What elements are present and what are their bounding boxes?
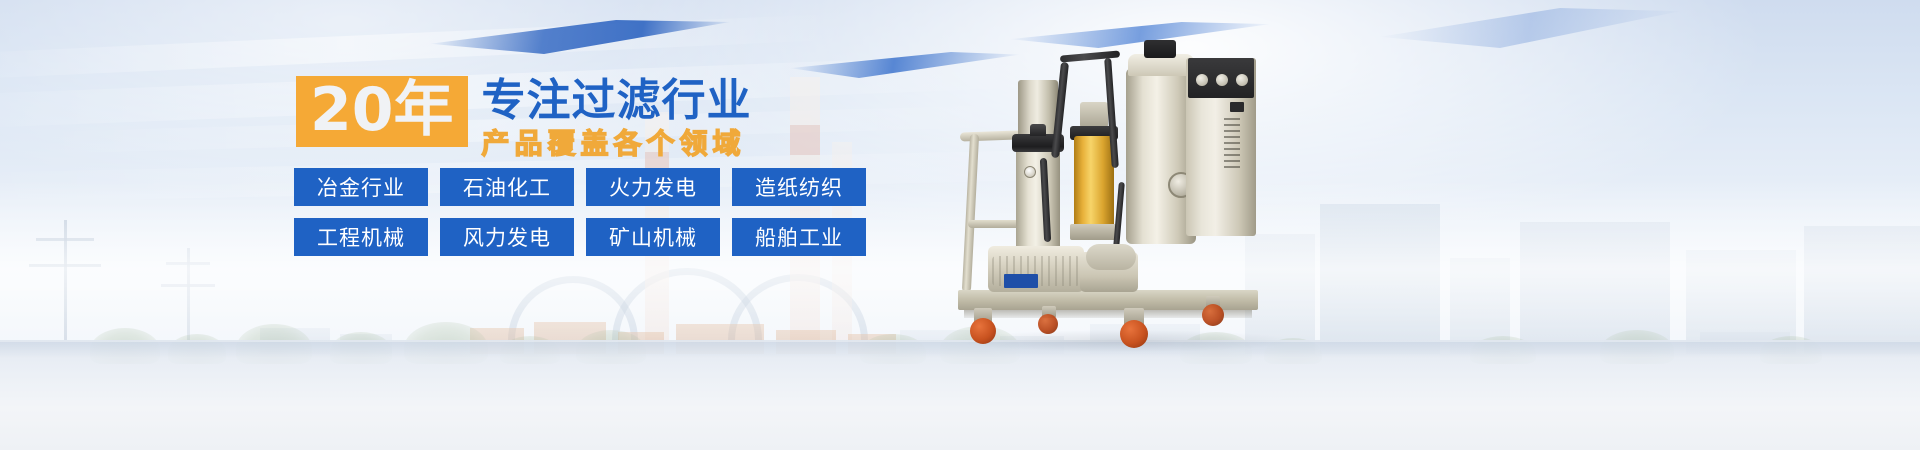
pressure-gauge-icon bbox=[1024, 166, 1036, 178]
tag-marine-industry[interactable]: 船舶工业 bbox=[732, 218, 866, 256]
headline-block: 20年 专注过滤行业 产品覆盖各个领域 bbox=[296, 76, 996, 159]
control-knob-icon bbox=[1196, 74, 1208, 86]
caster-wheel bbox=[1202, 304, 1224, 326]
filter-tank-neck bbox=[1144, 40, 1176, 58]
product-image-filtration-cart bbox=[930, 8, 1290, 348]
plant-building bbox=[1686, 250, 1796, 354]
arch-structure bbox=[728, 274, 868, 340]
headline-row: 20年 专注过滤行业 产品覆盖各个领域 bbox=[296, 76, 996, 159]
industry-tag-row: 工程机械 风力发电 矿山机械 船舶工业 bbox=[294, 218, 894, 256]
industry-tag-row: 冶金行业 石油化工 火力发电 造纸纺织 bbox=[294, 168, 894, 206]
cabinet-vent-grille bbox=[1224, 118, 1240, 172]
caster-wheel bbox=[1120, 320, 1148, 348]
plant-building bbox=[1320, 204, 1440, 354]
left-canister-knob bbox=[1030, 124, 1046, 136]
control-knob-icon bbox=[1216, 74, 1228, 86]
control-knob-icon bbox=[1236, 74, 1248, 86]
power-pylon-icon bbox=[28, 220, 102, 340]
arch-structure bbox=[612, 268, 762, 340]
promo-banner: 20年 专注过滤行业 产品覆盖各个领域 冶金行业 石油化工 火力发电 造纸纺织 … bbox=[0, 0, 1920, 450]
tag-mining-machinery[interactable]: 矿山机械 bbox=[586, 218, 720, 256]
pump-motor bbox=[1086, 244, 1136, 270]
center-canister-base bbox=[1070, 224, 1118, 240]
connection-hose bbox=[1113, 182, 1125, 248]
years-badge: 20年 bbox=[296, 76, 468, 147]
light-streak bbox=[0, 14, 840, 81]
center-canister-head bbox=[1080, 102, 1108, 128]
left-filter-canister bbox=[1016, 148, 1060, 256]
ground-plane bbox=[0, 340, 1920, 450]
caster-wheel bbox=[970, 318, 996, 344]
headline-subtitle: 产品覆盖各个领域 bbox=[482, 129, 752, 160]
village-roofs bbox=[470, 300, 900, 354]
plant-building bbox=[1450, 258, 1510, 354]
power-pylon-icon bbox=[160, 248, 216, 340]
tag-thermal-power[interactable]: 火力发电 bbox=[586, 168, 720, 206]
arch-structure bbox=[508, 276, 638, 340]
motor-nameplate bbox=[1004, 274, 1038, 288]
blue-ribbon-swoosh bbox=[430, 20, 730, 54]
tag-construction-machinery[interactable]: 工程机械 bbox=[294, 218, 428, 256]
headline-main-title: 专注过滤行业 bbox=[482, 78, 752, 125]
cabinet-badge bbox=[1230, 102, 1244, 112]
plant-building bbox=[1520, 222, 1670, 354]
years-badge-label: 20年 bbox=[310, 80, 454, 141]
tag-petrochemical[interactable]: 石油化工 bbox=[440, 168, 574, 206]
cart-handle-left-post bbox=[962, 134, 979, 292]
blue-ribbon-swoosh bbox=[1380, 8, 1680, 48]
caster-wheel bbox=[1038, 314, 1058, 334]
tag-metallurgy[interactable]: 冶金行业 bbox=[294, 168, 428, 206]
plant-building bbox=[1804, 226, 1920, 354]
headline-text-group: 专注过滤行业 产品覆盖各个领域 bbox=[482, 76, 752, 159]
center-yellow-filter-canister bbox=[1074, 136, 1114, 228]
industry-tag-grid: 冶金行业 石油化工 火力发电 造纸纺织 工程机械 风力发电 矿山机械 船舶工业 bbox=[294, 168, 894, 268]
tag-wind-power[interactable]: 风力发电 bbox=[440, 218, 574, 256]
tag-paper-textile[interactable]: 造纸纺织 bbox=[732, 168, 866, 206]
